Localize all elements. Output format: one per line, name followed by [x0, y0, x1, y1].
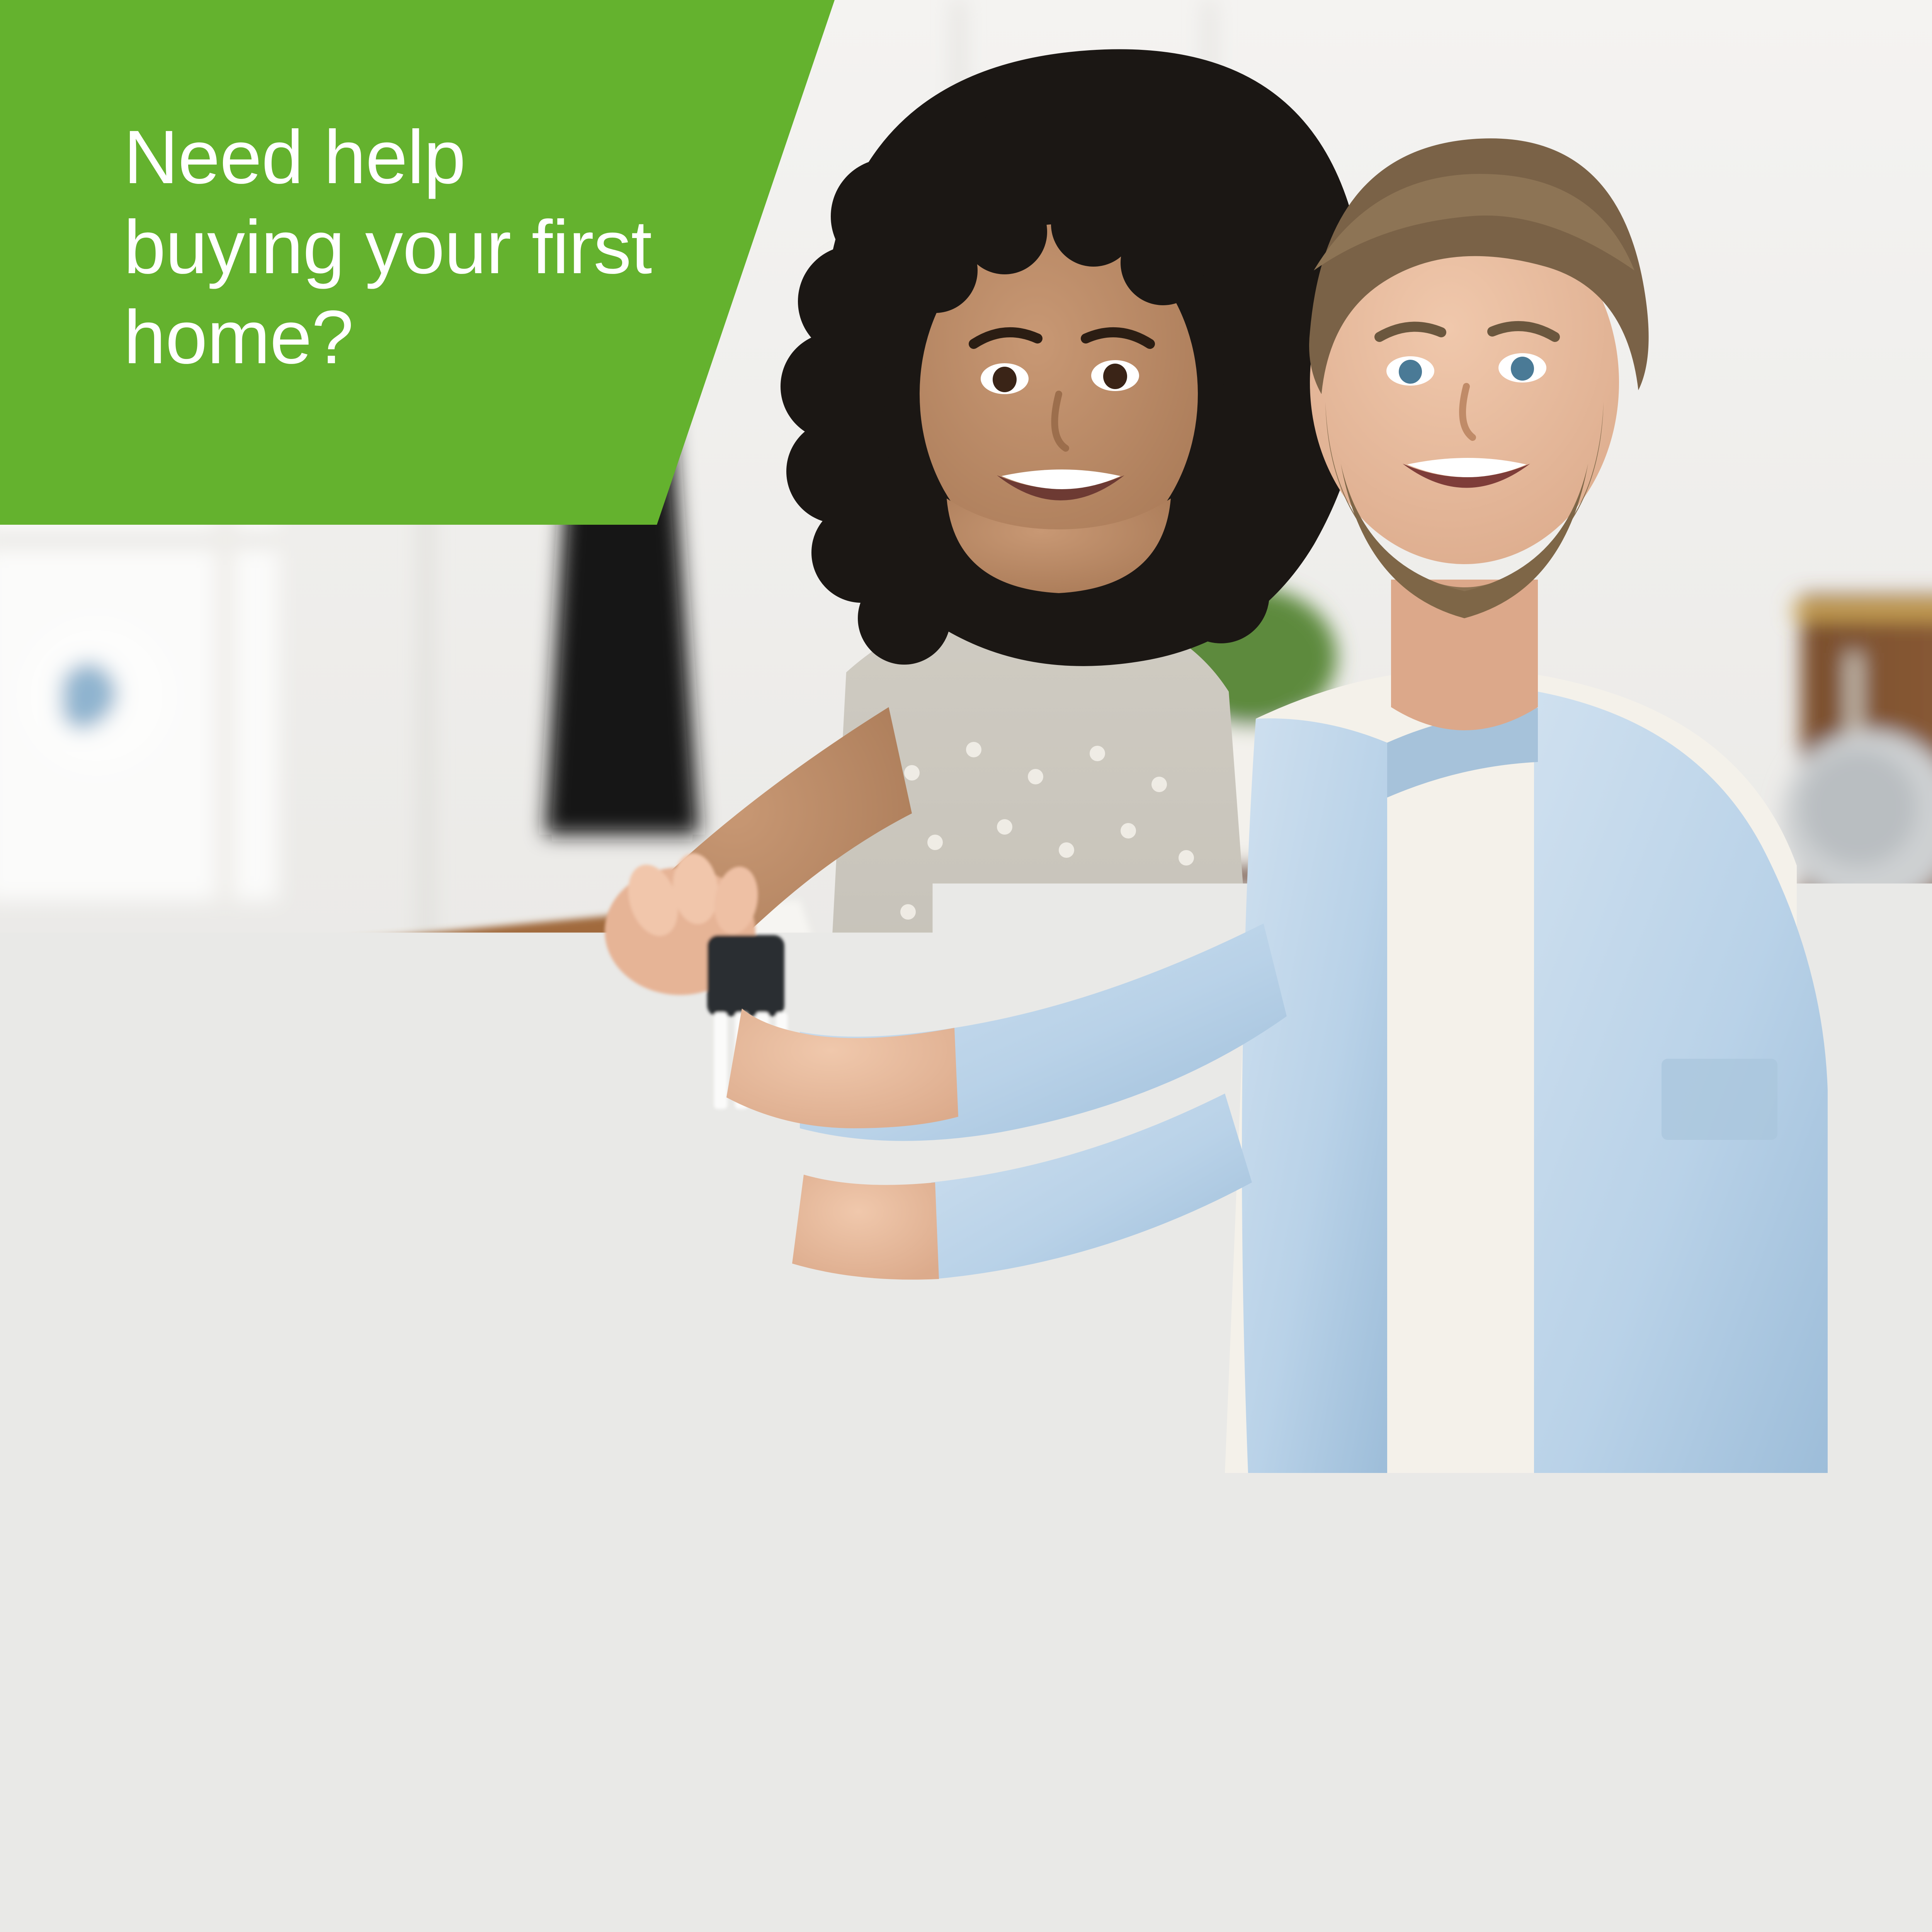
hero-banner: Need help buying your first home? [0, 0, 1932, 1473]
left-column: Apprisen, in partnership with United Way… [129, 1788, 1288, 1932]
attend-label: Attend this free workshop on: [1419, 1788, 1932, 1837]
workshop-dates: November 14th & 15th 2022 at 4:30pm -7:3… [1419, 1837, 1932, 1932]
hero-headline: Need help buying your first home? [124, 112, 651, 383]
page-title: Free First Time Homebuyer Virtual Worksh… [129, 1608, 1481, 1687]
intro-paragraph: Apprisen, in partnership with United Way… [129, 1788, 1288, 1932]
right-column: Attend this free workshop on: November 1… [1419, 1788, 1932, 1932]
